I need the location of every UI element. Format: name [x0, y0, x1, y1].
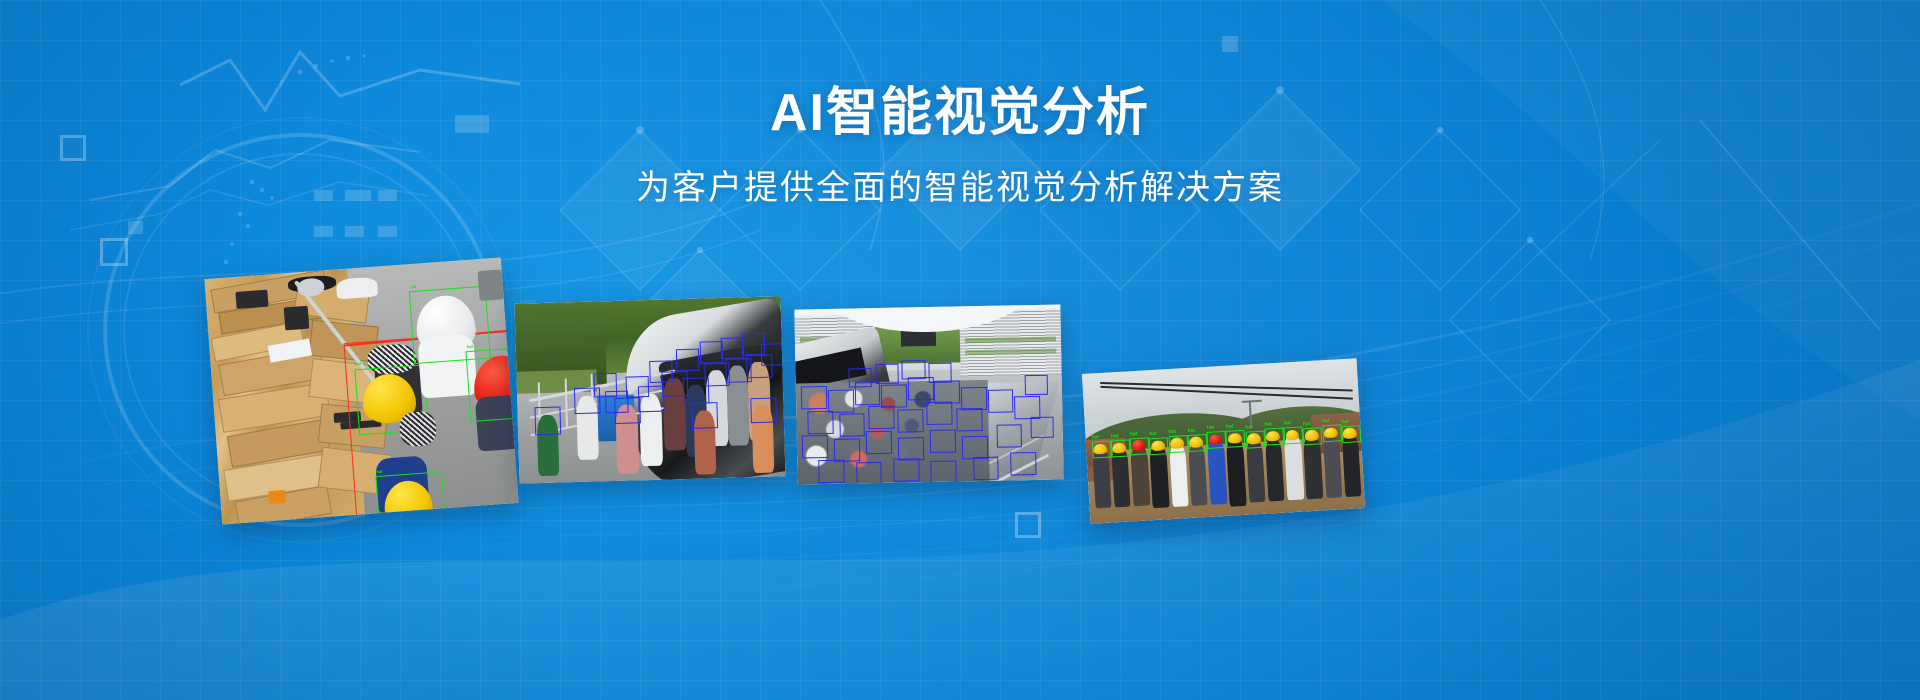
detection-box-hat-2 — [1111, 440, 1131, 458]
photo-pedestrian-bridge-crowd — [515, 296, 786, 483]
detection-box-helmet-4 — [375, 471, 446, 524]
detection-label-hat-5: hat — [1168, 430, 1176, 435]
detection-box-hat-9 — [1245, 430, 1265, 448]
page-title: AI智能视觉分析 — [0, 84, 1920, 142]
detection-box-hat-6 — [1187, 434, 1207, 452]
detection-label-hat-8: hat — [1226, 425, 1234, 430]
detection-label-hat-3: hat — [1130, 432, 1138, 437]
page-subtitle: 为客户提供全面的智能视觉分析解决方案 — [0, 168, 1920, 209]
gallery-card-pedestrian-bridge-face-detection[interactable] — [515, 296, 786, 483]
detection-box-hat-1 — [1091, 441, 1111, 459]
gallery-card-station-platform-crowd-detection[interactable] — [794, 304, 1063, 484]
detection-label-hat-14: hat — [1341, 420, 1349, 425]
detection-label-helmet-3: hat — [467, 344, 473, 348]
card-photo-frame: hat hat hat hat hat hat — [1082, 358, 1365, 524]
detection-label-hat-10: hat — [1264, 423, 1272, 428]
detection-box-hat-7 — [1206, 431, 1226, 449]
detection-box-hat-5 — [1168, 435, 1188, 453]
card-photo-frame — [794, 304, 1063, 484]
detection-label-hat-9: hat — [1245, 425, 1253, 430]
detection-label-hat-1: hat — [1092, 436, 1100, 441]
detection-box-hat-10 — [1264, 428, 1284, 446]
gallery-card-construction-site-hat-detection[interactable]: hat hat hat hat hat hat — [1082, 358, 1365, 524]
detection-box-helmet-3 — [466, 346, 519, 422]
detection-label-hat-6: hat — [1188, 429, 1196, 434]
detection-label-hat-13: hat — [1322, 419, 1330, 424]
detection-box-hat-12 — [1303, 427, 1323, 445]
detection-label-hat-7: hat — [1207, 426, 1215, 431]
detection-box-hat-3 — [1130, 437, 1150, 455]
card-photo-frame: hat hat hat hat — [204, 257, 518, 524]
detection-label-hat-4: hat — [1149, 432, 1157, 437]
detection-label-hat-12: hat — [1303, 422, 1311, 427]
photo-warehouse-overhead: hat hat hat hat — [204, 257, 518, 524]
detection-box-hat-4 — [1149, 437, 1169, 455]
detection-box-hat-13 — [1322, 424, 1342, 442]
detection-box-hat-11 — [1283, 427, 1303, 445]
photo-station-platform-crowd — [794, 304, 1063, 484]
photo-construction-site-crowd: hat hat hat hat hat hat — [1082, 358, 1365, 524]
detection-label-helmet-4: hat — [376, 469, 382, 473]
detection-label-hat-11: hat — [1284, 421, 1292, 426]
ai-vision-hero-banner: AI智能视觉分析 为客户提供全面的智能视觉分析解决方案 — [0, 0, 1920, 700]
detection-label-helmet-1: hat — [355, 362, 361, 366]
gallery-card-warehouse-helmet-detection[interactable]: hat hat hat hat — [204, 257, 518, 524]
detection-box-hat-14 — [1341, 425, 1361, 443]
hero-copy: AI智能视觉分析 为客户提供全面的智能视觉分析解决方案 — [0, 84, 1920, 209]
detection-box-hat-8 — [1226, 430, 1246, 448]
detection-label-helmet-2: hat — [410, 284, 416, 288]
card-photo-frame — [515, 296, 786, 483]
detection-label-hat-2: hat — [1111, 434, 1119, 439]
